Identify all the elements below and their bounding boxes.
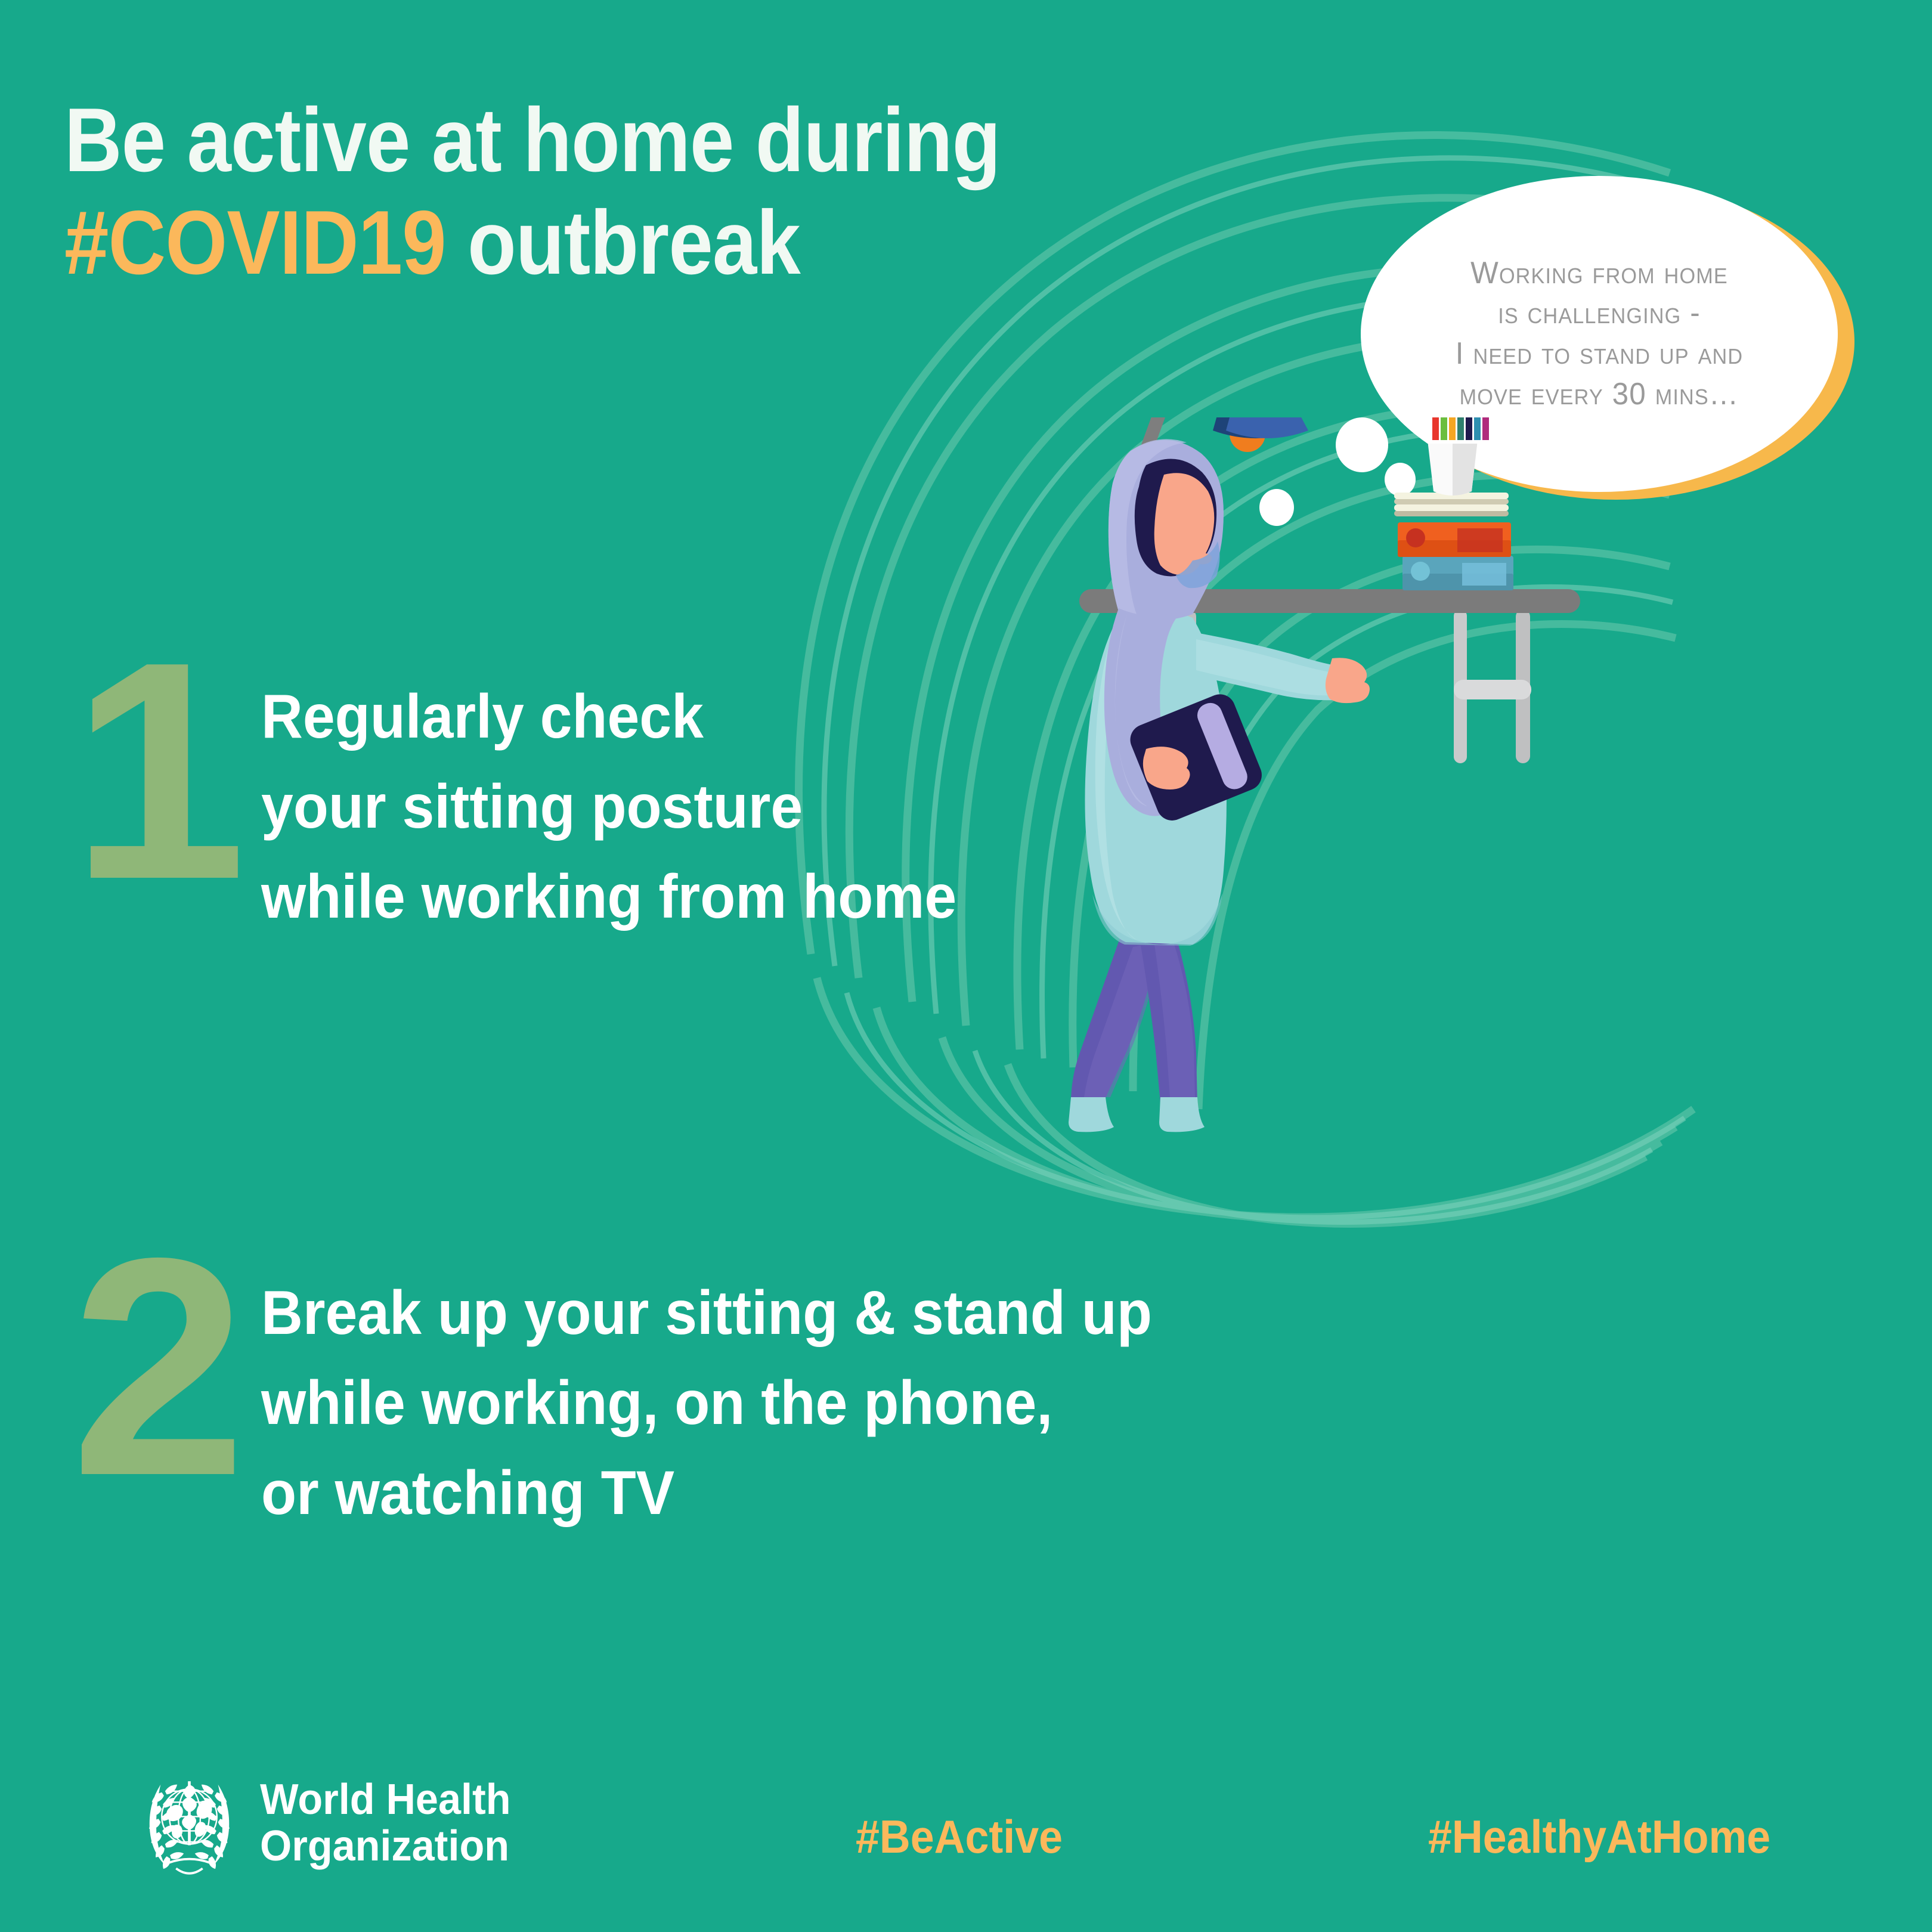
tip-2-line-1: Break up your sitting & stand up	[261, 1268, 1152, 1358]
page-title: Be active at home during #COVID19 outbre…	[64, 89, 1257, 295]
tip-2-line-3: or watching TV	[261, 1448, 1152, 1538]
bubble-line-4: move every 30 mins…	[1413, 374, 1787, 415]
bubble-line-1: Working from home	[1413, 253, 1787, 294]
tip-1-line-3: while working from home	[261, 852, 956, 942]
headline-line-2: #COVID19 outbreak	[64, 192, 1114, 295]
headline-outbreak-word: outbreak	[446, 192, 800, 293]
who-name-line-2: Organization	[260, 1823, 511, 1870]
illustration-woman-at-desk	[1014, 417, 1932, 1252]
poster-canvas: Be active at home during #COVID19 outbre…	[0, 0, 1932, 1932]
thought-bubble-text: Working from home is challenging - I nee…	[1413, 253, 1787, 414]
woman-figure	[1069, 439, 1370, 1132]
bubble-line-2: is challenging -	[1413, 293, 1787, 334]
headline-line-1: Be active at home during	[64, 89, 1114, 192]
covid19-hashtag: #COVID19	[64, 192, 446, 293]
bubble-line-3: I need to stand up and	[1413, 334, 1787, 374]
colored-pencils	[1432, 417, 1489, 440]
books-and-pencil-cup	[1394, 417, 1513, 590]
tip-1-line-1: Regularly check	[261, 672, 956, 762]
tip-item-2: 2 Break up your sitting & stand up while…	[66, 1243, 1219, 1538]
who-name-line-1: World Health	[260, 1777, 511, 1823]
tip-number-1: 1	[64, 647, 246, 895]
hashtag-beactive[interactable]: #BeActive	[856, 1810, 1063, 1864]
hashtag-healthyathome[interactable]: #HealthyAtHome	[1428, 1810, 1770, 1864]
who-emblem-icon	[134, 1768, 244, 1878]
tip-item-1: 1 Regularly check your sitting posture w…	[66, 647, 1009, 942]
who-logo: World Health Organization	[134, 1768, 524, 1878]
who-name-text: World Health Organization	[260, 1777, 511, 1870]
tip-2-line-2: while working, on the phone,	[261, 1358, 1152, 1448]
tip-text-1: Regularly check your sitting posture whi…	[261, 672, 1009, 942]
tip-text-2: Break up your sitting & stand up while w…	[261, 1268, 1219, 1538]
tip-number-2: 2	[64, 1243, 246, 1491]
tip-1-line-2: your sitting posture	[261, 762, 956, 852]
